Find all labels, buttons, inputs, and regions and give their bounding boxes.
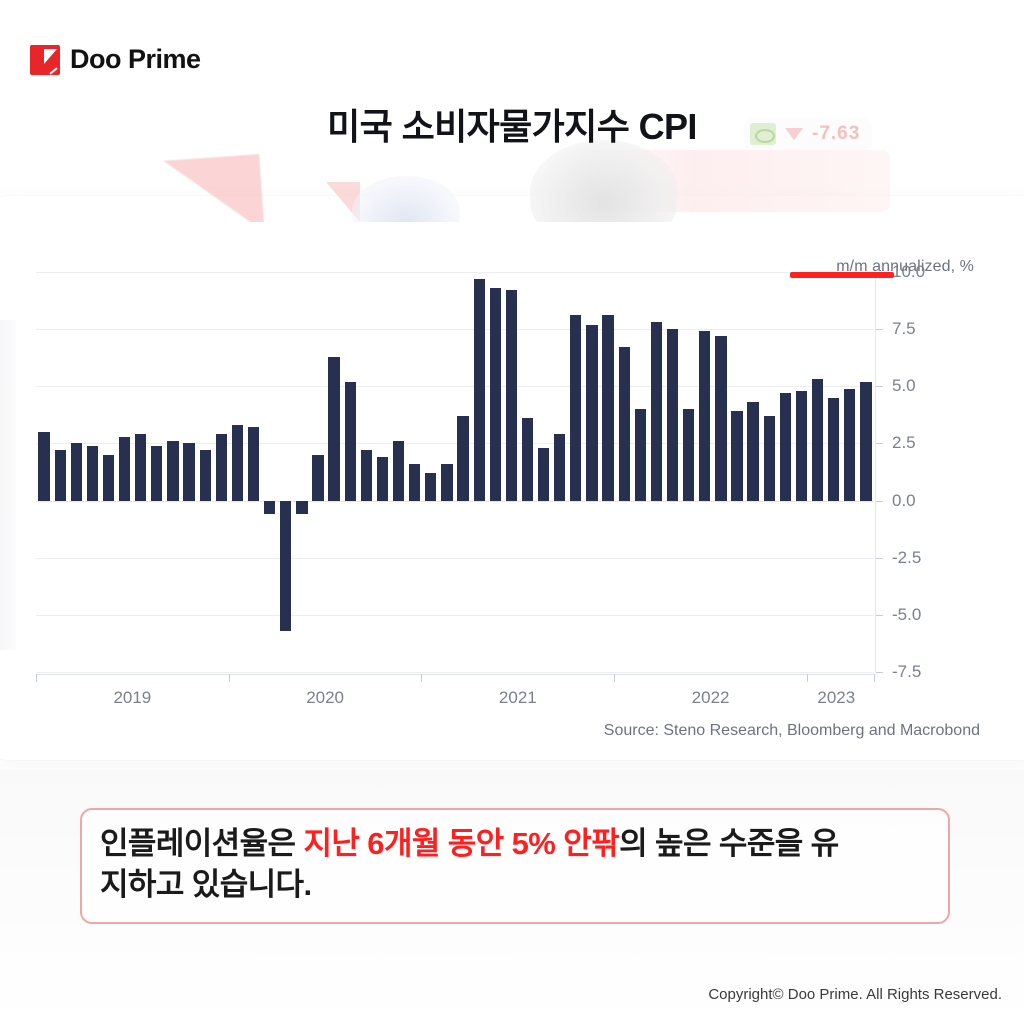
y-axis-label: 0.0 <box>892 491 916 511</box>
background-pink-patch <box>560 150 890 212</box>
bar <box>474 279 485 501</box>
bar <box>328 357 339 501</box>
bar <box>200 450 211 500</box>
y-axis-label: 5.0 <box>892 376 916 396</box>
caption-box: 인플레이션율은 지난 6개월 동안 5% 안팎의 높은 수준을 유 지하고 있습… <box>80 808 950 924</box>
bar <box>715 336 726 501</box>
gridline <box>36 672 874 673</box>
y-axis-label: 2.5 <box>892 433 916 453</box>
plot-area: 10.07.55.02.50.0-2.5-5.0-7.5 <box>36 272 874 672</box>
page-title-text: 미국 소비자물가지수 CPI <box>327 98 697 150</box>
bar <box>441 464 452 501</box>
caption-line-2: 지하고 있습니다. <box>100 865 930 906</box>
bar <box>570 315 581 500</box>
doo-prime-mark-icon <box>30 45 60 75</box>
bar <box>409 464 420 501</box>
bar <box>425 473 436 500</box>
brand-logo: Doo Prime <box>30 44 201 75</box>
source-note: Source: Steno Research, Bloomberg and Ma… <box>604 722 980 740</box>
y-axis-label: -2.5 <box>892 548 921 568</box>
y-axis-label: -7.5 <box>892 662 921 682</box>
y-axis-label: 10.0 <box>892 262 925 282</box>
caption-line-1: 인플레이션율은 지난 6개월 동안 5% 안팎의 높은 수준을 유 <box>100 824 930 865</box>
bar <box>216 434 227 500</box>
bar <box>151 446 162 501</box>
footer-copyright: Copyright© Doo Prime. All Rights Reserve… <box>708 986 1002 1003</box>
bar <box>844 389 855 501</box>
bar <box>71 443 82 500</box>
ghost-quote-badge: -7.63 <box>744 118 872 150</box>
bar <box>135 434 146 500</box>
chart-card: m/m annualized, % 10.07.55.02.50.0-2.5-5… <box>16 222 1008 752</box>
bar <box>377 457 388 500</box>
bar <box>506 290 517 500</box>
bar <box>296 501 307 515</box>
x-axis-line <box>36 674 874 675</box>
x-axis-label: 2020 <box>306 688 344 708</box>
bar <box>538 448 549 501</box>
x-axis-tick <box>614 674 615 682</box>
caption-part-1: 인플레이션율은 <box>100 826 303 861</box>
bar <box>651 322 662 500</box>
bar <box>119 437 130 501</box>
bar-series <box>36 272 874 672</box>
bar <box>361 450 372 500</box>
y-axis-label: 7.5 <box>892 319 916 339</box>
brand-name: Doo Prime <box>70 44 201 75</box>
y-axis-tick <box>876 615 883 616</box>
bar <box>731 411 742 500</box>
bar <box>87 446 98 501</box>
x-axis-tick <box>36 674 37 682</box>
x-axis-label: 2019 <box>113 688 151 708</box>
y-axis-tick <box>876 386 883 387</box>
caption-highlight: 지난 6개월 동안 5% 안팎 <box>303 826 619 861</box>
background-triangle-small-icon <box>316 182 360 222</box>
x-axis-tick <box>807 674 808 682</box>
y-axis-tick <box>876 558 883 559</box>
y-axis-line <box>875 272 876 672</box>
ghost-value: -7.63 <box>812 123 860 145</box>
bar <box>183 443 194 500</box>
x-axis-label: 2023 <box>817 688 855 708</box>
bar <box>747 402 758 500</box>
chart-container: m/m annualized, % 10.07.55.02.50.0-2.5-5… <box>16 222 1008 752</box>
bar <box>554 434 565 500</box>
x-axis-tick <box>874 674 875 682</box>
x-axis-tick <box>421 674 422 682</box>
bar <box>457 416 468 501</box>
ghost-brand-icon <box>750 123 776 145</box>
bar <box>167 441 178 500</box>
bar <box>796 391 807 501</box>
bar <box>490 288 501 501</box>
bar <box>635 409 646 500</box>
x-axis-label: 2021 <box>499 688 537 708</box>
bar <box>812 379 823 500</box>
y-axis-tick <box>876 501 883 502</box>
y-axis-label: -5.0 <box>892 605 921 625</box>
bar <box>103 455 114 501</box>
bar <box>280 501 291 631</box>
y-axis-tick <box>876 329 883 330</box>
bar <box>55 450 66 500</box>
bar <box>828 398 839 501</box>
bar <box>780 393 791 500</box>
x-axis-tick <box>229 674 230 682</box>
bar <box>232 425 243 500</box>
bar <box>345 382 356 501</box>
bar <box>602 315 613 500</box>
caption-part-2: 의 높은 수준을 유 <box>619 826 838 861</box>
x-axis-label: 2022 <box>692 688 730 708</box>
y-axis-tick <box>876 272 883 273</box>
bar <box>312 455 323 501</box>
bar <box>764 416 775 501</box>
bar <box>683 409 694 500</box>
bar <box>586 325 597 501</box>
bar <box>522 418 533 500</box>
y-axis-tick <box>876 443 883 444</box>
down-triangle-icon <box>785 128 803 140</box>
bar <box>860 382 871 501</box>
bar <box>619 347 630 500</box>
bar <box>264 501 275 515</box>
bar <box>667 329 678 500</box>
y-axis-tick <box>876 672 883 673</box>
bar <box>393 441 404 500</box>
bar <box>248 427 259 500</box>
bar <box>38 432 49 501</box>
bar <box>699 331 710 500</box>
